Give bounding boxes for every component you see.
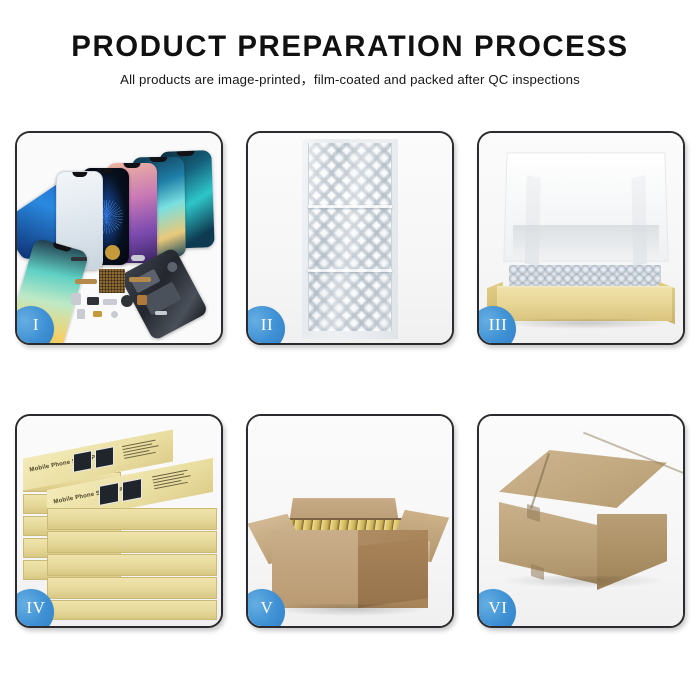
spare-part-flex-cable xyxy=(129,277,151,282)
spare-part-flex-cable xyxy=(75,279,97,284)
kraft-box xyxy=(47,600,217,620)
phone-notch-icon xyxy=(124,163,141,168)
spare-part xyxy=(103,299,117,305)
spare-part-camera xyxy=(121,295,133,307)
spare-part-screw xyxy=(111,311,118,318)
mailer-box-shadow xyxy=(501,319,669,329)
step-badge-4-label: IV xyxy=(26,585,45,628)
step-3-illustration xyxy=(479,133,683,343)
spare-part xyxy=(137,295,147,305)
kraft-box xyxy=(47,554,217,576)
kraft-box-window xyxy=(122,478,142,502)
kraft-box-stack: Mobile Phone Spare Parts Mobile Phone Sp… xyxy=(23,438,219,618)
bubble-wrap-gloss xyxy=(309,143,391,331)
page-subtitle: All products are image-printed，film-coat… xyxy=(0,71,700,89)
spare-part-chip xyxy=(99,269,125,293)
kraft-box-window xyxy=(73,450,92,473)
step-badge-5-label: V xyxy=(261,585,274,628)
step-badge-1-label: I xyxy=(33,302,39,345)
spare-part xyxy=(87,297,99,305)
sealed-carton-top xyxy=(499,450,667,508)
page-header: PRODUCT PREPARATION PROCESS All products… xyxy=(0,0,700,89)
spare-part-speaker xyxy=(105,245,120,260)
step-badge-2-label: II xyxy=(261,302,274,345)
spare-part-screw xyxy=(93,311,102,317)
step-2-illustration xyxy=(248,133,452,343)
step-4-illustration: Mobile Phone Spare Parts Mobile Phone Sp… xyxy=(17,416,221,626)
spare-part xyxy=(131,255,145,261)
page-title: PRODUCT PREPARATION PROCESS xyxy=(7,30,693,64)
spare-part xyxy=(71,257,87,261)
spare-part xyxy=(71,293,81,305)
carton-body-side xyxy=(358,538,428,608)
kraft-box-window xyxy=(95,446,114,469)
sealed-carton-front xyxy=(499,502,597,584)
kraft-box-window xyxy=(99,482,119,506)
process-step-grid: I II xyxy=(15,131,685,628)
phone-notch-icon xyxy=(72,172,87,177)
step-6-illustration xyxy=(479,416,683,626)
process-step-panel-5[interactable]: V xyxy=(246,414,454,628)
box-inner-shadow xyxy=(513,225,659,257)
kraft-box xyxy=(47,531,217,553)
kraft-box xyxy=(47,577,217,599)
carton-shadow xyxy=(274,604,426,616)
spare-part xyxy=(155,311,167,315)
phone-notch-icon xyxy=(176,151,194,157)
process-step-panel-6[interactable]: VI xyxy=(477,414,685,628)
process-step-panel-1[interactable]: I xyxy=(15,131,223,345)
spare-part xyxy=(77,309,85,319)
kraft-box xyxy=(47,508,217,530)
step-badge-3-label: III xyxy=(489,302,508,345)
carton-body-front xyxy=(272,530,358,608)
spare-parts-cluster xyxy=(71,245,186,337)
process-step-panel-3[interactable]: III xyxy=(477,131,685,345)
step-badge-6-label: VI xyxy=(488,585,507,628)
sealed-carton-shadow xyxy=(503,576,663,588)
bubble-wrap-fold xyxy=(308,269,392,272)
step-5-illustration xyxy=(248,416,452,626)
process-step-panel-4[interactable]: Mobile Phone Spare Parts Mobile Phone Sp… xyxy=(15,414,223,628)
step-1-illustration xyxy=(17,133,221,343)
mailer-box-front xyxy=(497,289,672,321)
phone-notch-icon xyxy=(149,157,167,162)
bubble-wrap-fold xyxy=(308,205,392,208)
bubble-wrap-core xyxy=(308,143,392,331)
process-step-panel-2[interactable]: II xyxy=(246,131,454,345)
